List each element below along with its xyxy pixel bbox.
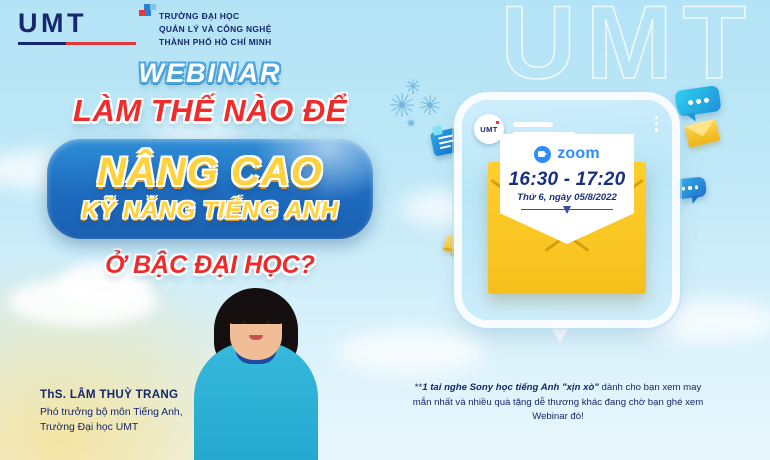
speaker-role: Phó trưởng bộ môn Tiếng Anh, Trường Đại … (40, 405, 183, 435)
event-time: 16:30 - 17:20 (500, 169, 634, 191)
video-camera-icon (534, 146, 551, 163)
avatar-accent (496, 121, 499, 124)
headline-line-1: LÀM THẾ NÀO ĐỂ (0, 93, 420, 129)
headline-block: WEBINAR LÀM THẾ NÀO ĐỂ NÂNG CAO KỸ NĂNG … (0, 58, 420, 280)
speaker-role-line-2: Trường Đại học UMT (40, 420, 183, 435)
logo-subtitle-line-2: QUẢN LÝ VÀ CÔNG NGHỆ (159, 23, 272, 36)
logo-subtitle-line-3: THÀNH PHỐ HỒ CHÍ MINH (159, 36, 272, 49)
placeholder-bar (513, 122, 553, 127)
headline-pill-line-2: KỸ NĂNG TIẾNG ANH (47, 197, 373, 225)
note-icon (432, 128, 462, 154)
webinar-banner: UMT UMT TRƯỜNG ĐẠI HỌC QUẢN LÝ VÀ CÔNG N… (0, 0, 770, 460)
logo-mark: UMT (18, 10, 136, 45)
umt-logo: UMT TRƯỜNG ĐẠI HỌC QUẢN LÝ VÀ CÔNG NGHỆ … (18, 10, 272, 48)
headline-pill-line-1: NÂNG CAO (47, 150, 373, 195)
headline-line-last: Ở BẬC ĐẠI HỌC? (0, 251, 420, 280)
chat-bubble-icon (674, 85, 721, 117)
card-divider (521, 209, 613, 210)
speaker-eye (266, 321, 271, 324)
speaker-eye (241, 321, 246, 324)
promo-highlight: 1 tai nghe Sony học tiếng Anh "xịn xò" (422, 382, 599, 393)
speaker-role-line-1: Phó trưởng bộ môn Tiếng Anh, (40, 405, 183, 420)
logo-wordmark: UMT (18, 10, 136, 37)
cloud-decoration (336, 330, 486, 374)
logo-subtitle-line-1: TRƯỜNG ĐẠI HỌC (159, 10, 272, 23)
more-vertical-icon[interactable] (655, 116, 658, 132)
speaker-photo (186, 280, 326, 460)
headline-pill: NÂNG CAO KỸ NĂNG TIẾNG ANH (47, 139, 373, 239)
speaker-name: ThS. LÂM THUỲ TRANG (40, 388, 178, 401)
chat-bubble-icon (673, 176, 707, 199)
logo-plus-icon (139, 4, 155, 20)
webinar-eyebrow: WEBINAR (0, 58, 420, 89)
phone-mockup: UMT zoom 16:30 - 17:20 Thứ 6, ngày 05/8/… (462, 100, 672, 320)
logo-underline (18, 42, 136, 45)
zoom-logo: zoom (500, 145, 634, 163)
promo-note: **1 tai nghe Sony học tiếng Anh "xịn xò"… (408, 381, 708, 425)
event-date: Thứ 6, ngày 05/8/2022 (500, 192, 634, 203)
zoom-wordmark: zoom (557, 145, 600, 163)
avatar: UMT (474, 114, 504, 144)
avatar-label: UMT (480, 125, 497, 134)
logo-subtitle: TRƯỜNG ĐẠI HỌC QUẢN LÝ VÀ CÔNG NGHỆ THÀN… (159, 10, 272, 48)
